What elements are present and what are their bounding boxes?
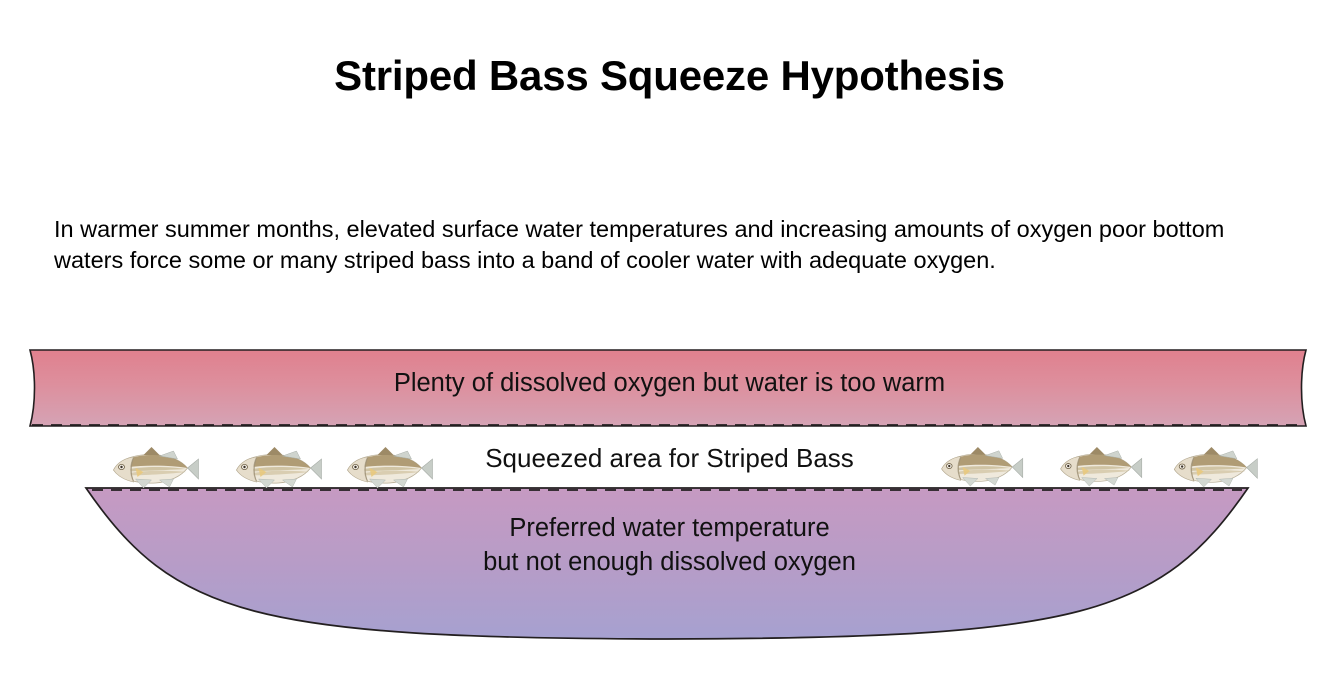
striped-bass-fish-icon bbox=[99, 446, 200, 490]
striped-bass-squeeze-diagram: Plenty of dissolved oxygen but water is … bbox=[0, 338, 1339, 658]
striped-bass-fish-icon bbox=[222, 446, 323, 490]
page-title: Striped Bass Squeeze Hypothesis bbox=[0, 52, 1339, 100]
bottom-layer-label-line1: Preferred water temperature bbox=[0, 513, 1339, 543]
striped-bass-fish-icon bbox=[928, 446, 1024, 488]
surface-layer-label: Plenty of dissolved oxygen but water is … bbox=[0, 368, 1339, 398]
striped-bass-fish-icon bbox=[333, 446, 434, 490]
striped-bass-fish-icon bbox=[1160, 446, 1259, 489]
bottom-layer-label-line2: but not enough dissolved oxygen bbox=[0, 547, 1339, 577]
striped-bass-fish-icon bbox=[1047, 446, 1143, 488]
intro-paragraph: In warmer summer months, elevated surfac… bbox=[54, 214, 1292, 278]
bottom-layer-label: Preferred water temperature but not enou… bbox=[0, 513, 1339, 577]
